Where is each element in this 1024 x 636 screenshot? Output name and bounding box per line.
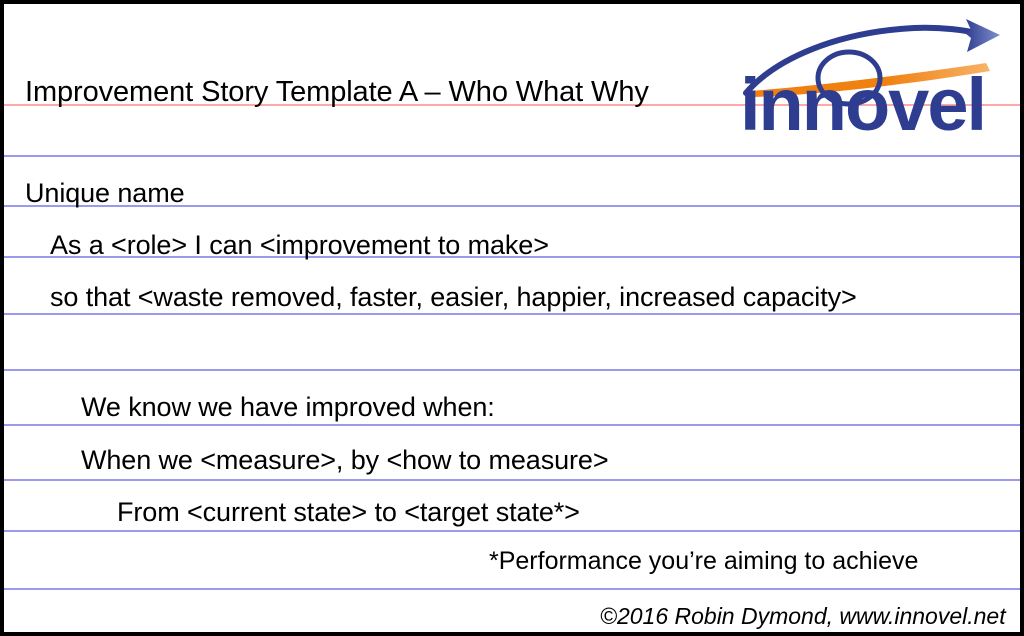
rule-line-blue-5: [4, 369, 1020, 371]
slide-border-left: [0, 0, 4, 636]
rule-line-blue-9: [4, 588, 1020, 590]
body-line-from-current-state: From <current state> to <target state*>: [117, 499, 580, 526]
slide-border-right: [1020, 0, 1024, 636]
rule-line-blue-8: [4, 530, 1020, 532]
slide-border-top: [0, 0, 1024, 4]
rule-line-blue-7: [4, 479, 1020, 481]
rule-line-blue-6: [4, 424, 1020, 426]
copyright-line: ©2016 Robin Dymond, www.innovel.net: [600, 605, 1006, 628]
footnote-performance: *Performance you’re aiming to achieve: [489, 549, 918, 574]
body-line-so-that: so that <waste removed, faster, easier, …: [50, 284, 857, 311]
slide-canvas: Improvement Story Template A – Who What …: [0, 0, 1024, 636]
body-line-unique-name: Unique name: [25, 180, 185, 207]
body-line-when-we-measure: When we <measure>, by <how to measure>: [81, 447, 609, 474]
rule-line-blue-4: [4, 313, 1020, 315]
innovel-logo: innovel: [728, 16, 1008, 148]
page-title: Improvement Story Template A – Who What …: [25, 78, 649, 107]
body-line-we-know: We know we have improved when:: [81, 394, 495, 421]
innovel-wordmark: innovel: [740, 68, 985, 142]
arrow-head-icon: [965, 19, 1000, 52]
rule-line-blue-1: [4, 155, 1020, 157]
body-line-as-a-role: As a <role> I can <improvement to make>: [50, 232, 549, 259]
slide-border-bottom: [0, 632, 1024, 636]
